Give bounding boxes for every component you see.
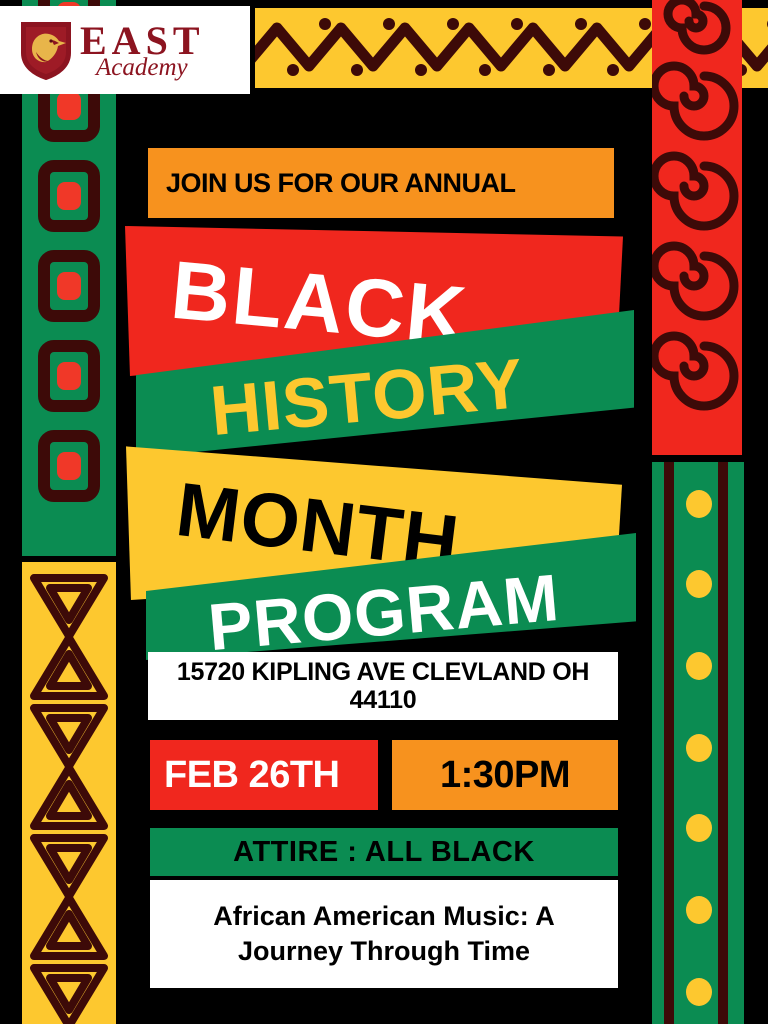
attire-box: ATTIRE : ALL BLACK: [150, 828, 618, 876]
date-box: FEB 26TH: [150, 740, 378, 810]
theme-box: African American Music: A Journey Throug…: [150, 880, 618, 988]
attire-text: ATTIRE : ALL BLACK: [233, 836, 535, 869]
time-box: 1:30PM: [392, 740, 618, 810]
black-history-month-flyer: EAST Academy JOIN US FOR OUR ANNUAL BLAC…: [0, 0, 768, 1024]
time-text: 1:30PM: [440, 754, 570, 797]
poster-content: JOIN US FOR OUR ANNUAL BLACK HISTORY MON…: [0, 0, 768, 1024]
address-box: 15720 KIPLING AVE CLEVLAND OH 44110: [148, 652, 618, 720]
date-text: FEB 26TH: [164, 754, 339, 797]
headline-text-history: HISTORY: [207, 348, 526, 446]
theme-text: African American Music: A Journey Throug…: [168, 899, 600, 969]
address-text: 15720 KIPLING AVE CLEVLAND OH 44110: [156, 658, 610, 714]
kicker-text: JOIN US FOR OUR ANNUAL: [166, 168, 516, 199]
headline-text-program: PROGRAM: [206, 564, 562, 660]
kicker-band: JOIN US FOR OUR ANNUAL: [148, 148, 614, 218]
